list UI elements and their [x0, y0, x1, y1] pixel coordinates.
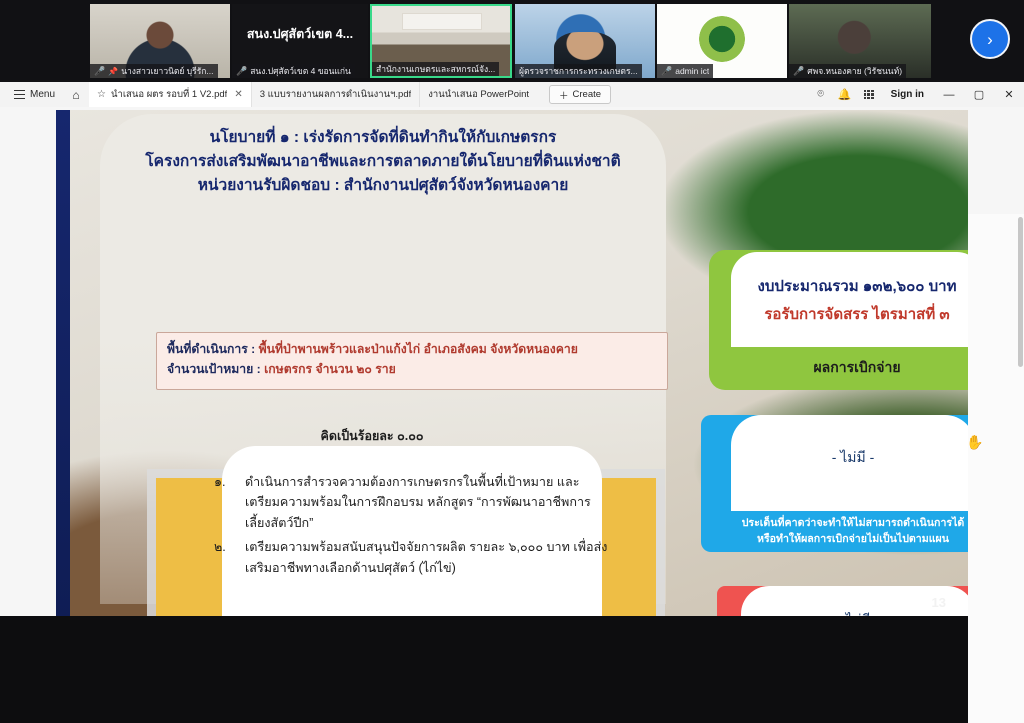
create-button[interactable]: ＋ Create	[549, 85, 611, 104]
list-item: ๑. ดำเนินการสำรวจความต้องการเกษตรกรในพื้…	[214, 472, 614, 533]
participant-name: นางสาวเยาวนิตย์ บุรีรัก...	[121, 64, 213, 78]
item-text: เตรียมความพร้อมสนับสนุนปัจจัยการผลิต ราย…	[245, 537, 614, 578]
viewer-right-gutter	[968, 214, 1024, 723]
budget-footer-label: ผลการเบิกจ่าย	[813, 357, 900, 379]
menu-button[interactable]: Menu	[0, 82, 63, 107]
mic-off-icon: 🎤	[94, 67, 105, 76]
participant-tile[interactable]: 🎤 📌 นางสาวเยาวนิตย์ บุรีรัก...	[90, 4, 230, 78]
item-number: ๑.	[214, 472, 236, 533]
item-text: ดำเนินการสำรวจความต้องการเกษตรกรในพื้นที…	[245, 472, 614, 533]
filmstrip-next-button[interactable]: ›	[970, 19, 1010, 59]
presentation-slide: นโยบายที่ ๑ : เร่งรัดการจัดที่ดินทำกินให…	[56, 110, 968, 616]
slide-info-box: พื้นที่ดำเนินการ : พื้นที่ป่าพานพร้าวและ…	[156, 332, 668, 390]
minimize-button[interactable]: —	[934, 82, 964, 107]
participant-namebar: 🎤 สนง.ปศุสัตว์เขต 4 ขอนแก่น	[232, 64, 355, 78]
menu-label: Menu	[30, 89, 55, 100]
tab-report-pdf[interactable]: 3 แบบรายงานผลการดำเนินงานฯ.pdf	[252, 82, 421, 107]
slide-title-block: นโยบายที่ ๑ : เร่งรัดการจัดที่ดินทำกินให…	[102, 126, 664, 198]
chevron-right-icon: ›	[987, 31, 993, 48]
participant-namebar: 🎤 ศพจ.หนองคาย (วิรัชนนท์)	[789, 64, 906, 78]
star-icon[interactable]: ☆	[97, 89, 106, 100]
participant-namebar: 🎤 📌 นางสาวเยาวนิตย์ บุรีรัก...	[90, 64, 218, 78]
tab-title: งานนำเสนอ PowerPoint	[428, 87, 529, 102]
zoom-screen-share-window: 🎤 📌 นางสาวเยาวนิตย์ บุรีรัก... สนง.ปศุสั…	[0, 0, 1024, 616]
create-label: Create	[573, 89, 602, 100]
slide-title-line-3: หน่วยงานรับผิดชอบ : สำนักงานปศุสัตว์จังห…	[102, 174, 664, 198]
pin-icon: 📌	[108, 67, 118, 76]
mic-off-icon: 🎤	[236, 67, 247, 76]
participant-namebar: ผู้ตรวจราชการกระทรวงเกษตร...	[515, 64, 642, 78]
grid-apps-icon[interactable]	[857, 82, 881, 107]
results-item-list: ๑. ดำเนินการสำรวจความต้องการเกษตรกรในพื้…	[214, 472, 614, 582]
tab-title: 3 แบบรายงานผลการดำเนินงานฯ.pdf	[260, 87, 412, 102]
info-target-value: เกษตรกร จำนวน ๒๐ ราย	[264, 362, 396, 376]
info-line-target: จำนวนเป้าหมาย : เกษตรกร จำนวน ๒๐ ราย	[167, 360, 657, 380]
participant-name: ศพจ.หนองคาย (วิรัชนนท์)	[807, 64, 902, 78]
info-target-label: จำนวนเป้าหมาย :	[167, 362, 264, 376]
budget-panel-inner: งบประมาณรวม ๑๓๒,๖๐๐ บาท รอรับการจัดสรร ไ…	[731, 252, 968, 347]
hamburger-icon	[14, 90, 25, 99]
tab-presentation-pdf[interactable]: ☆ นำเสนอ ผตร รอบที่ 1 V2.pdf ✕	[89, 82, 252, 107]
followup-panel: - ไม่มี - ประเด็นที่ต้องการให้ผู้ตรวจราช…	[717, 586, 968, 616]
participant-namebar: สำนักงานเกษตรและสหกรณ์จัง...	[372, 62, 499, 76]
budget-status: รอรับการจัดสรร ไตรมาสที่ ๓	[731, 302, 968, 326]
info-area-label: พื้นที่ดำเนินการ :	[167, 342, 259, 356]
participant-tile[interactable]: ผู้ตรวจราชการกระทรวงเกษตร...	[515, 4, 655, 78]
sign-in-button[interactable]: Sign in	[881, 89, 934, 100]
info-area-value: พื้นที่ป่าพานพร้าวและป่าแก้งไก่ อำเภอสัง…	[259, 342, 578, 356]
participant-name: สำนักงานเกษตรและสหกรณ์จัง...	[376, 62, 495, 76]
mic-off-icon: 🎤	[661, 67, 672, 76]
pdf-viewer: นโยบายที่ ๑ : เร่งรัดการจัดที่ดินทำกินให…	[0, 107, 1024, 616]
browser-toolbar: Menu ⌂ ☆ นำเสนอ ผตร รอบที่ 1 V2.pdf ✕ 3 …	[0, 82, 1024, 108]
toolbar-right-group: ⌾ 🔔 Sign in — ▢ ✕	[809, 82, 1024, 107]
vertical-scrollbar[interactable]	[1018, 217, 1023, 367]
budget-panel-footer: ผลการเบิกจ่าย	[709, 346, 968, 390]
close-button[interactable]: ✕	[994, 82, 1024, 107]
participant-name: ผู้ตรวจราชการกระทรวงเกษตร...	[519, 64, 638, 78]
mic-off-icon: 🎤	[793, 67, 804, 76]
participant-name: admin ict	[675, 66, 709, 76]
maximize-button[interactable]: ▢	[964, 82, 994, 107]
participant-tile[interactable]: สนง.ปศุสัตว์เขต 4... 🎤 สนง.ปศุสัตว์เขต 4…	[232, 4, 368, 78]
participant-tile-active-speaker[interactable]: สำนักงานเกษตรและสหกรณ์จัง...	[370, 4, 512, 78]
participant-namebar: 🎤 admin ict	[657, 64, 713, 78]
risk-panel: - ไม่มี - ประเด็นที่คาดว่าจะทำให้ไม่สามา…	[701, 415, 968, 552]
budget-panel: งบประมาณรวม ๑๓๒,๖๐๐ บาท รอรับการจัดสรร ไ…	[709, 250, 968, 390]
participant-tile[interactable]: 🎤 ศพจ.หนองคาย (วิรัชนนท์)	[789, 4, 931, 78]
budget-total: งบประมาณรวม ๑๓๒,๖๐๐ บาท	[731, 274, 968, 298]
participant-overlay-title: สนง.ปศุสัตว์เขต 4...	[232, 24, 368, 44]
risk-panel-footer: ประเด็นที่คาดว่าจะทำให้ไม่สามารถดำเนินกา…	[701, 511, 968, 552]
bell-icon[interactable]: 🔔	[833, 82, 857, 107]
mouse-cursor-hand-icon: ✋	[966, 434, 982, 452]
close-icon[interactable]: ✕	[234, 89, 242, 100]
tab-powerpoint[interactable]: งานนำเสนอ PowerPoint	[420, 82, 537, 107]
percent-label: คิดเป็นร้อยละ ๐.๐๐	[252, 426, 492, 446]
slide-title-line-2: โครงการส่งเสริมพัฒนาอาชีพและการตลาดภายใต…	[102, 150, 664, 174]
participant-tile[interactable]: 🎤 admin ict	[657, 4, 787, 78]
participant-name: สนง.ปศุสัตว์เขต 4 ขอนแก่น	[250, 64, 351, 78]
risk-value: - ไม่มี -	[731, 447, 968, 469]
risk-footer-line-2: หรือทำให้ผลการเบิกจ่ายไม่เป็นไปตามแผน	[757, 532, 949, 548]
question-circle-icon[interactable]: ⌾	[809, 82, 833, 107]
home-icon[interactable]: ⌂	[63, 82, 89, 107]
page-number: 13	[932, 595, 946, 610]
info-line-area: พื้นที่ดำเนินการ : พื้นที่ป่าพานพร้าวและ…	[167, 340, 657, 360]
participant-filmstrip: 🎤 📌 นางสาวเยาวนิตย์ บุรีรัก... สนง.ปศุสั…	[0, 0, 1024, 82]
slide-title-line-1: นโยบายที่ ๑ : เร่งรัดการจัดที่ดินทำกินให…	[102, 126, 664, 150]
tab-title: นำเสนอ ผตร รอบที่ 1 V2.pdf	[111, 87, 227, 102]
item-number: ๒.	[214, 537, 236, 578]
risk-footer-line-1: ประเด็นที่คาดว่าจะทำให้ไม่สามารถดำเนินกา…	[742, 516, 965, 532]
tab-strip: ☆ นำเสนอ ผตร รอบที่ 1 V2.pdf ✕ 3 แบบรายง…	[89, 82, 537, 107]
list-item: ๒. เตรียมความพร้อมสนับสนุนปัจจัยการผลิต …	[214, 537, 614, 578]
plus-icon: ＋	[559, 88, 569, 102]
risk-panel-inner: - ไม่มี -	[731, 415, 968, 511]
